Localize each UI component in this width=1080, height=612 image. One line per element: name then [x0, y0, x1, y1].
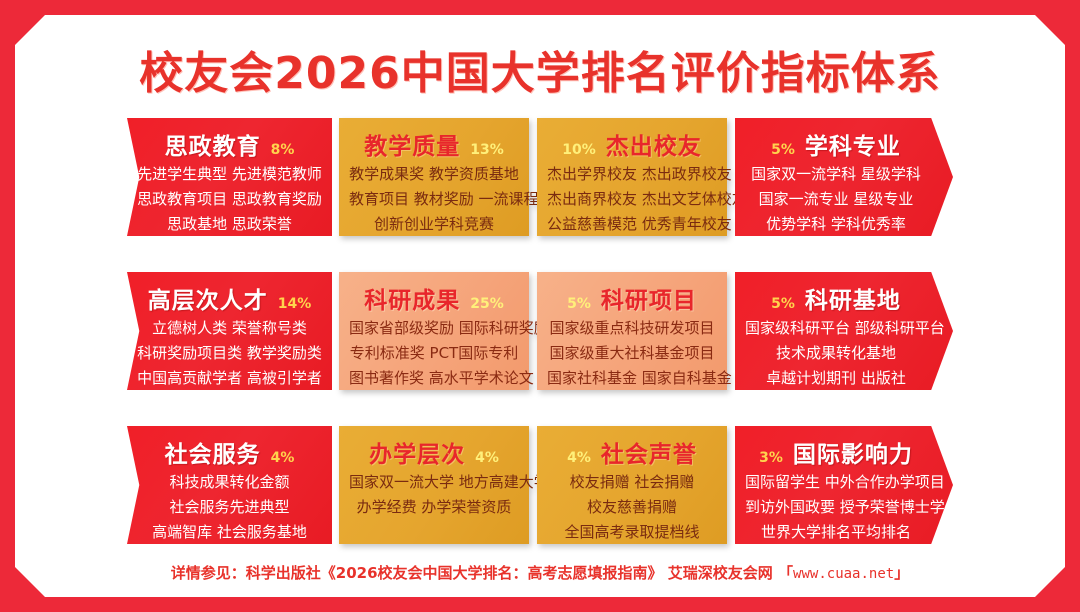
card-indicator-line: 国家社科基金 国家自科基金: [547, 366, 717, 391]
indicator-card-办学层次[interactable]: 办学层次4%国家双一流大学 地方高建大学办学经费 办学荣誉资质: [339, 426, 529, 544]
card-indicator-line: 国家一流专业 星级专业: [745, 187, 927, 212]
card-header: 5%学科专业: [745, 127, 927, 160]
indicator-row: 社会服务4%科技成果转化金额社会服务先进典型高端智库 社会服务基地办学层次4%国…: [127, 426, 953, 566]
card-indicator-line: 优势学科 学科优秀率: [745, 212, 927, 237]
indicator-grid: 思政教育8%先进学生典型 先进模范教师思政教育项目 思政教育奖励思政基地 思政荣…: [127, 118, 953, 580]
indicator-card-科研项目[interactable]: 5%科研项目国家级重点科技研发项目国家级重大社科基金项目国家社科基金 国家自科基…: [537, 272, 727, 390]
card-indicator-line: 公益慈善模范 优秀青年校友: [547, 212, 717, 237]
card-header: 科研成果25%: [349, 281, 519, 314]
card-title: 社会声誉: [601, 435, 697, 469]
card-weight-percent: 5%: [567, 296, 591, 312]
card-indicator-list: 科技成果转化金额社会服务先进典型高端智库 社会服务基地: [137, 470, 322, 545]
card-title: 科研成果: [364, 281, 460, 315]
card-header: 4%社会声誉: [547, 435, 717, 468]
card-indicator-list: 国家省部级奖励 国际科研奖励专利标准奖 PCT国际专利图书著作奖 高水平学术论文: [349, 316, 519, 391]
card-indicator-line: 卓越计划期刊 出版社: [745, 366, 927, 391]
card-indicator-list: 校友捐赠 社会捐赠校友慈善捐赠全国高考录取提档线: [547, 470, 717, 545]
card-indicator-line: 创新创业学科竞赛: [349, 212, 519, 237]
card-indicator-line: 杰出商界校友 杰出文艺体校友: [547, 187, 717, 212]
indicator-row: 高层次人才14%立德树人类 荣誉称号类科研奖励项目类 教学奖励类中国高贡献学者 …: [127, 272, 953, 412]
indicator-card-国际影响力[interactable]: 3%国际影响力国际留学生 中外合作办学项目到访外国政要 授予荣誉博士学位世界大学…: [735, 426, 953, 544]
indicator-card-学科专业[interactable]: 5%学科专业国家双一流学科 星级学科国家一流专业 星级专业优势学科 学科优秀率: [735, 118, 953, 236]
card-indicator-list: 立德树人类 荣誉称号类科研奖励项目类 教学奖励类中国高贡献学者 高被引学者: [137, 316, 322, 391]
card-indicator-line: 科技成果转化金额: [137, 470, 322, 495]
card-weight-percent: 5%: [771, 142, 795, 158]
card-header: 思政教育8%: [137, 127, 322, 160]
card-weight-percent: 10%: [562, 142, 596, 158]
card-indicator-line: 国家省部级奖励 国际科研奖励: [349, 316, 519, 341]
card-header: 10%杰出校友: [547, 127, 717, 160]
card-weight-percent: 3%: [759, 450, 783, 466]
card-title: 社会服务: [165, 435, 261, 469]
card-indicator-line: 国家级科研平台 部级科研平台: [745, 316, 927, 341]
card-title: 杰出校友: [606, 127, 702, 161]
card-weight-percent: 13%: [470, 142, 504, 158]
card-indicator-line: 全国高考录取提档线: [547, 520, 717, 545]
card-indicator-line: 国家级重点科技研发项目: [547, 316, 717, 341]
card-indicator-line: 校友慈善捐赠: [547, 495, 717, 520]
indicator-card-高层次人才[interactable]: 高层次人才14%立德树人类 荣誉称号类科研奖励项目类 教学奖励类中国高贡献学者 …: [127, 272, 332, 390]
indicator-card-杰出校友[interactable]: 10%杰出校友杰出学界校友 杰出政界校友杰出商界校友 杰出文艺体校友公益慈善模范…: [537, 118, 727, 236]
card-indicator-line: 立德树人类 荣誉称号类: [137, 316, 322, 341]
card-title: 学科专业: [805, 127, 901, 161]
card-header: 办学层次4%: [349, 435, 519, 468]
card-header: 3%国际影响力: [745, 435, 927, 468]
card-indicator-line: 国际留学生 中外合作办学项目: [745, 470, 927, 495]
card-indicator-line: 思政基地 思政荣誉: [137, 212, 322, 237]
card-weight-percent: 25%: [470, 296, 504, 312]
card-indicator-line: 办学经费 办学荣誉资质: [349, 495, 519, 520]
poster-frame: 校友会2026中国大学排名评价指标体系 思政教育8%先进学生典型 先进模范教师思…: [15, 15, 1065, 597]
card-indicator-list: 先进学生典型 先进模范教师思政教育项目 思政教育奖励思政基地 思政荣誉: [137, 162, 322, 237]
footer-bracket-open: 「: [778, 564, 793, 582]
card-indicator-line: 中国高贡献学者 高被引学者: [137, 366, 322, 391]
card-title: 办学层次: [369, 435, 465, 469]
card-indicator-list: 国家双一流学科 星级学科国家一流专业 星级专业优势学科 学科优秀率: [745, 162, 927, 237]
footer-note: 详情参见：科学出版社《2026校友会中国大学排名：高考志愿填报指南》 艾瑞深校友…: [15, 562, 1065, 583]
card-indicator-line: 杰出学界校友 杰出政界校友: [547, 162, 717, 187]
card-indicator-line: 校友捐赠 社会捐赠: [547, 470, 717, 495]
card-header: 社会服务4%: [137, 435, 322, 468]
card-indicator-line: 先进学生典型 先进模范教师: [137, 162, 322, 187]
card-header: 5%科研基地: [745, 281, 927, 314]
page-title: 校友会2026中国大学排名评价指标体系: [15, 37, 1065, 101]
card-indicator-line: 世界大学排名平均排名: [745, 520, 927, 545]
footer-prefix: 详情参见：科学出版社《2026校友会中国大学排名：高考志愿填报指南》: [171, 564, 663, 582]
card-indicator-list: 教学成果奖 教学资质基地教育项目 教材奖励 一流课程创新创业学科竞赛: [349, 162, 519, 237]
footer-bracket-close: 」: [894, 564, 909, 582]
card-weight-percent: 5%: [771, 296, 795, 312]
indicator-card-教学质量[interactable]: 教学质量13%教学成果奖 教学资质基地教育项目 教材奖励 一流课程创新创业学科竞…: [339, 118, 529, 236]
indicator-card-科研成果[interactable]: 科研成果25%国家省部级奖励 国际科研奖励专利标准奖 PCT国际专利图书著作奖 …: [339, 272, 529, 390]
card-indicator-line: 到访外国政要 授予荣誉博士学位: [745, 495, 927, 520]
card-indicator-line: 教学成果奖 教学资质基地: [349, 162, 519, 187]
card-indicator-list: 杰出学界校友 杰出政界校友杰出商界校友 杰出文艺体校友公益慈善模范 优秀青年校友: [547, 162, 717, 237]
card-indicator-line: 社会服务先进典型: [137, 495, 322, 520]
card-indicator-list: 国家双一流大学 地方高建大学办学经费 办学荣誉资质: [349, 470, 519, 520]
card-indicator-line: 国家双一流大学 地方高建大学: [349, 470, 519, 495]
card-indicator-line: 图书著作奖 高水平学术论文: [349, 366, 519, 391]
footer-url[interactable]: www.cuaa.net: [793, 566, 894, 582]
card-header: 高层次人才14%: [137, 281, 322, 314]
card-weight-percent: 4%: [271, 450, 295, 466]
card-indicator-list: 国际留学生 中外合作办学项目到访外国政要 授予荣誉博士学位世界大学排名平均排名: [745, 470, 927, 545]
card-title: 科研项目: [601, 281, 697, 315]
card-title: 科研基地: [805, 281, 901, 315]
indicator-card-科研基地[interactable]: 5%科研基地国家级科研平台 部级科研平台技术成果转化基地卓越计划期刊 出版社: [735, 272, 953, 390]
card-header: 5%科研项目: [547, 281, 717, 314]
card-header: 教学质量13%: [349, 127, 519, 160]
card-indicator-line: 高端智库 社会服务基地: [137, 520, 322, 545]
card-indicator-line: 技术成果转化基地: [745, 341, 927, 366]
card-indicator-line: 科研奖励项目类 教学奖励类: [137, 341, 322, 366]
card-indicator-line: 国家级重大社科基金项目: [547, 341, 717, 366]
card-title: 教学质量: [364, 127, 460, 161]
card-weight-percent: 8%: [271, 142, 295, 158]
indicator-card-思政教育[interactable]: 思政教育8%先进学生典型 先进模范教师思政教育项目 思政教育奖励思政基地 思政荣…: [127, 118, 332, 236]
card-indicator-line: 国家双一流学科 星级学科: [745, 162, 927, 187]
card-weight-percent: 4%: [475, 450, 499, 466]
card-weight-percent: 14%: [278, 296, 312, 312]
card-indicator-line: 专利标准奖 PCT国际专利: [349, 341, 519, 366]
footer-org: 艾瑞深校友会网: [668, 564, 773, 582]
card-indicator-line: 思政教育项目 思政教育奖励: [137, 187, 322, 212]
card-indicator-list: 国家级科研平台 部级科研平台技术成果转化基地卓越计划期刊 出版社: [745, 316, 927, 391]
card-title: 高层次人才: [148, 281, 268, 315]
card-title: 国际影响力: [793, 435, 913, 469]
card-indicator-list: 国家级重点科技研发项目国家级重大社科基金项目国家社科基金 国家自科基金: [547, 316, 717, 391]
indicator-card-社会服务[interactable]: 社会服务4%科技成果转化金额社会服务先进典型高端智库 社会服务基地: [127, 426, 332, 544]
card-indicator-line: 教育项目 教材奖励 一流课程: [349, 187, 519, 212]
indicator-row: 思政教育8%先进学生典型 先进模范教师思政教育项目 思政教育奖励思政基地 思政荣…: [127, 118, 953, 258]
indicator-card-社会声誉[interactable]: 4%社会声誉校友捐赠 社会捐赠校友慈善捐赠全国高考录取提档线: [537, 426, 727, 544]
card-weight-percent: 4%: [567, 450, 591, 466]
card-title: 思政教育: [165, 127, 261, 161]
